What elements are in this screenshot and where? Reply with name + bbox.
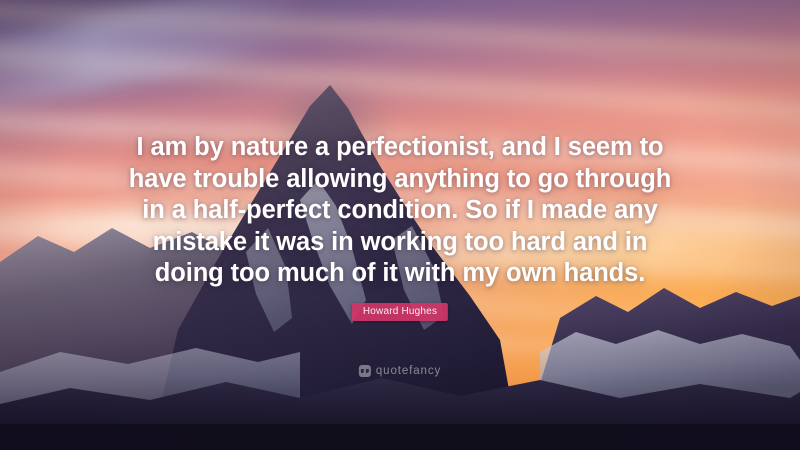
watermark[interactable]: quotefancy	[359, 365, 441, 377]
watermark-brand: quotefancy	[376, 365, 441, 377]
quote-line-1: I am by nature a perfectionist, and I se…	[64, 132, 736, 164]
quote-mark-icon	[359, 365, 371, 377]
quote-line-4: mistake it was in working too hard and i…	[64, 227, 736, 259]
quote-line-5: doing too much of it with my own hands.	[64, 258, 736, 290]
quote-line-3: in a half-perfect condition. So if I mad…	[64, 195, 736, 227]
quote-image: I am by nature a perfectionist, and I se…	[0, 0, 800, 450]
bottom-shadow	[0, 424, 800, 450]
author-badge[interactable]: Howard Hughes	[352, 303, 448, 321]
quote-line-2: have trouble allowing anything to go thr…	[64, 164, 736, 196]
quote-text: I am by nature a perfectionist, and I se…	[0, 132, 800, 290]
author-name: Howard Hughes	[363, 306, 437, 317]
